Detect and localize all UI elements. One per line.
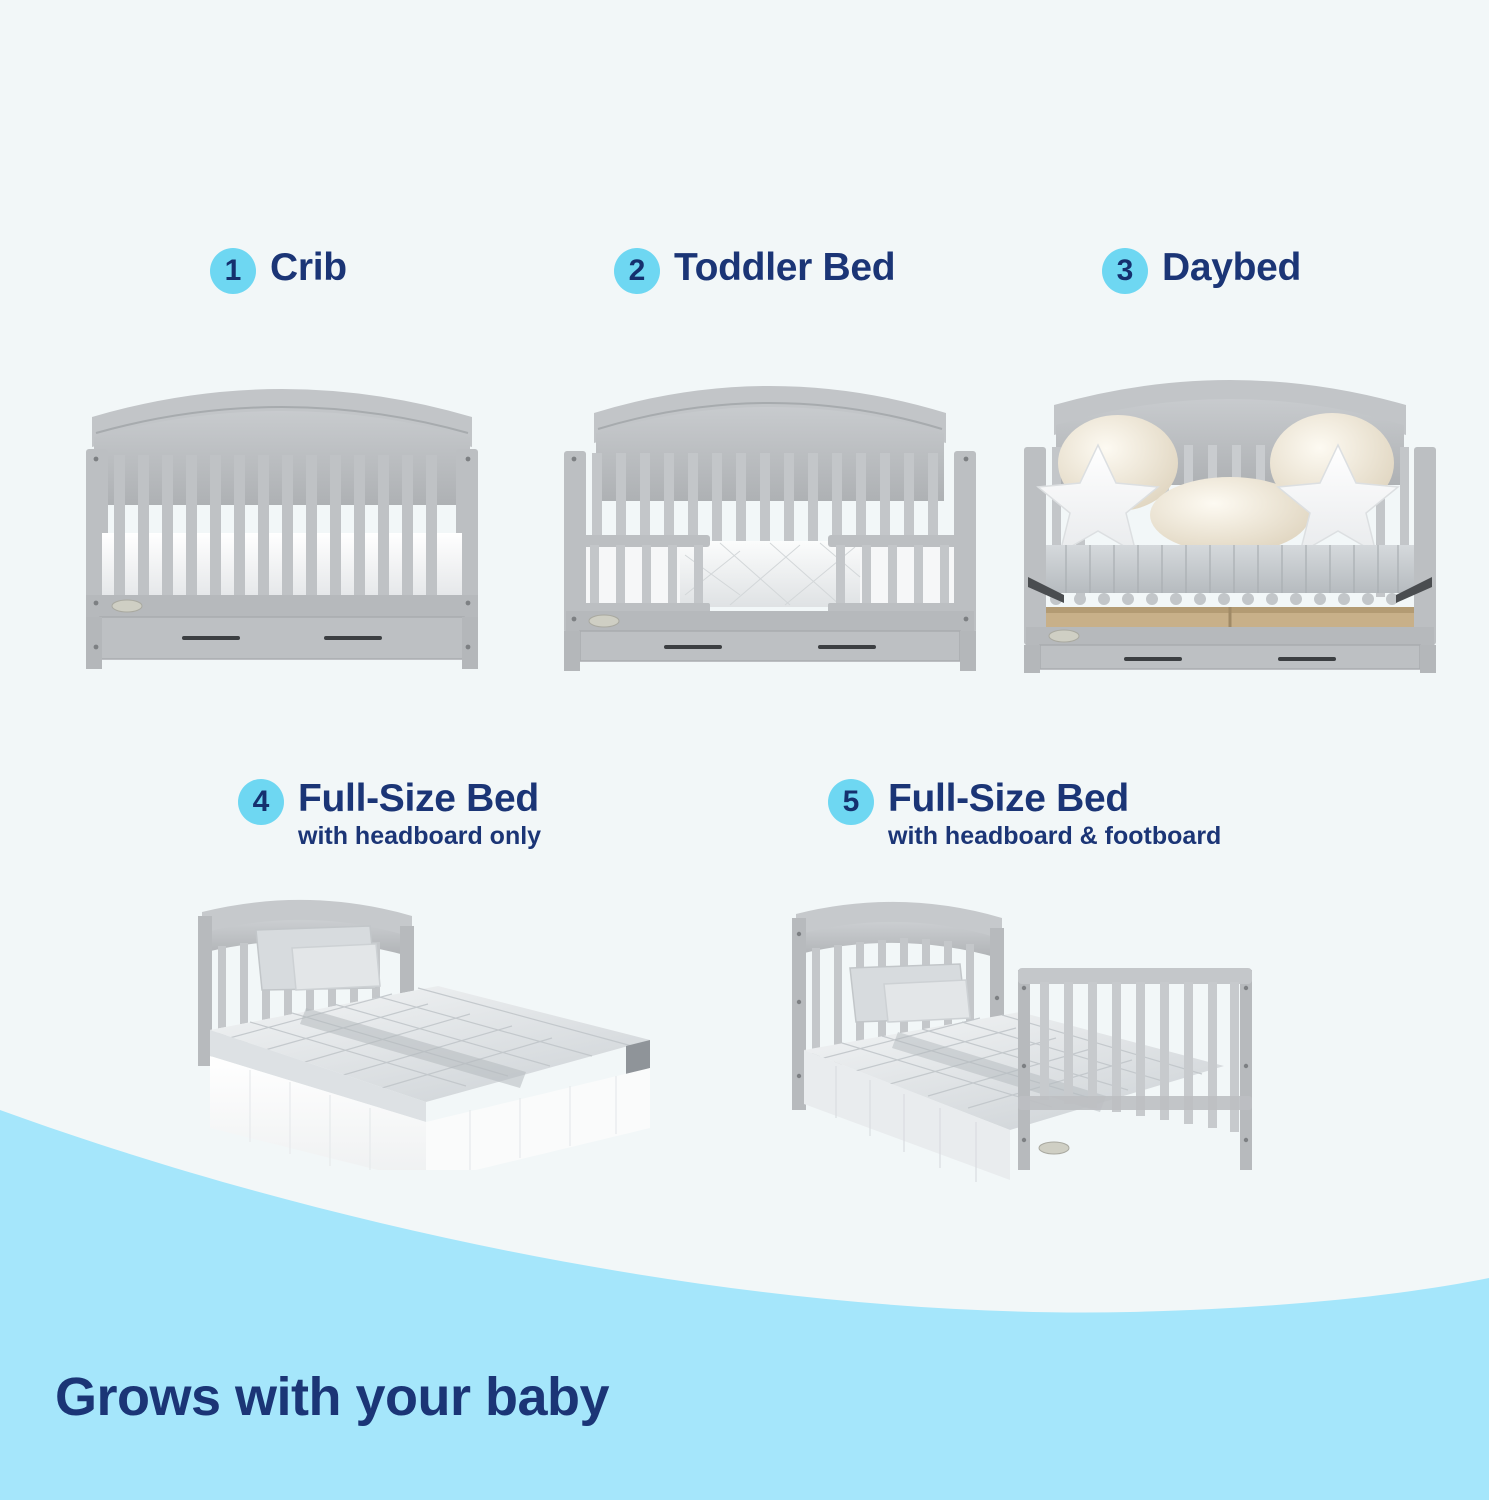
step-number-badge-5: 5 bbox=[828, 779, 874, 825]
step-text-2: Toddler Bed bbox=[674, 248, 895, 287]
step-text-4: Full-Size Bed with headboard only bbox=[298, 779, 541, 849]
step-label-2: 2 Toddler Bed bbox=[614, 248, 895, 294]
bottom-banner: Grows with your baby bbox=[0, 1080, 1489, 1500]
infographic-canvas: 1 Crib 2 Toddler Bed 3 Daybed 4 Full-Siz… bbox=[0, 0, 1489, 1500]
banner-wave-shape bbox=[0, 1110, 1489, 1500]
crib-illustration bbox=[72, 355, 492, 675]
step-label-1: 1 Crib bbox=[210, 248, 347, 294]
step-label-5: 5 Full-Size Bed with headboard & footboa… bbox=[828, 779, 1221, 849]
step-text-1: Crib bbox=[270, 248, 347, 287]
step-title-1: Crib bbox=[270, 248, 347, 287]
toddler-bed-illustration bbox=[560, 355, 980, 675]
step-text-5: Full-Size Bed with headboard & footboard bbox=[888, 779, 1221, 849]
step-subtitle-4: with headboard only bbox=[298, 824, 541, 849]
step-label-3: 3 Daybed bbox=[1102, 248, 1301, 294]
step-title-5: Full-Size Bed bbox=[888, 779, 1221, 818]
step-number-badge-3: 3 bbox=[1102, 248, 1148, 294]
step-subtitle-5: with headboard & footboard bbox=[888, 824, 1221, 849]
banner-headline: Grows with your baby bbox=[55, 1366, 609, 1428]
step-title-2: Toddler Bed bbox=[674, 248, 895, 287]
step-number-badge-1: 1 bbox=[210, 248, 256, 294]
step-title-4: Full-Size Bed bbox=[298, 779, 541, 818]
step-number-badge-2: 2 bbox=[614, 248, 660, 294]
step-text-3: Daybed bbox=[1162, 248, 1301, 287]
step-title-3: Daybed bbox=[1162, 248, 1301, 287]
daybed-illustration bbox=[1020, 355, 1440, 675]
step-label-4: 4 Full-Size Bed with headboard only bbox=[238, 779, 541, 849]
step-number-badge-4: 4 bbox=[238, 779, 284, 825]
